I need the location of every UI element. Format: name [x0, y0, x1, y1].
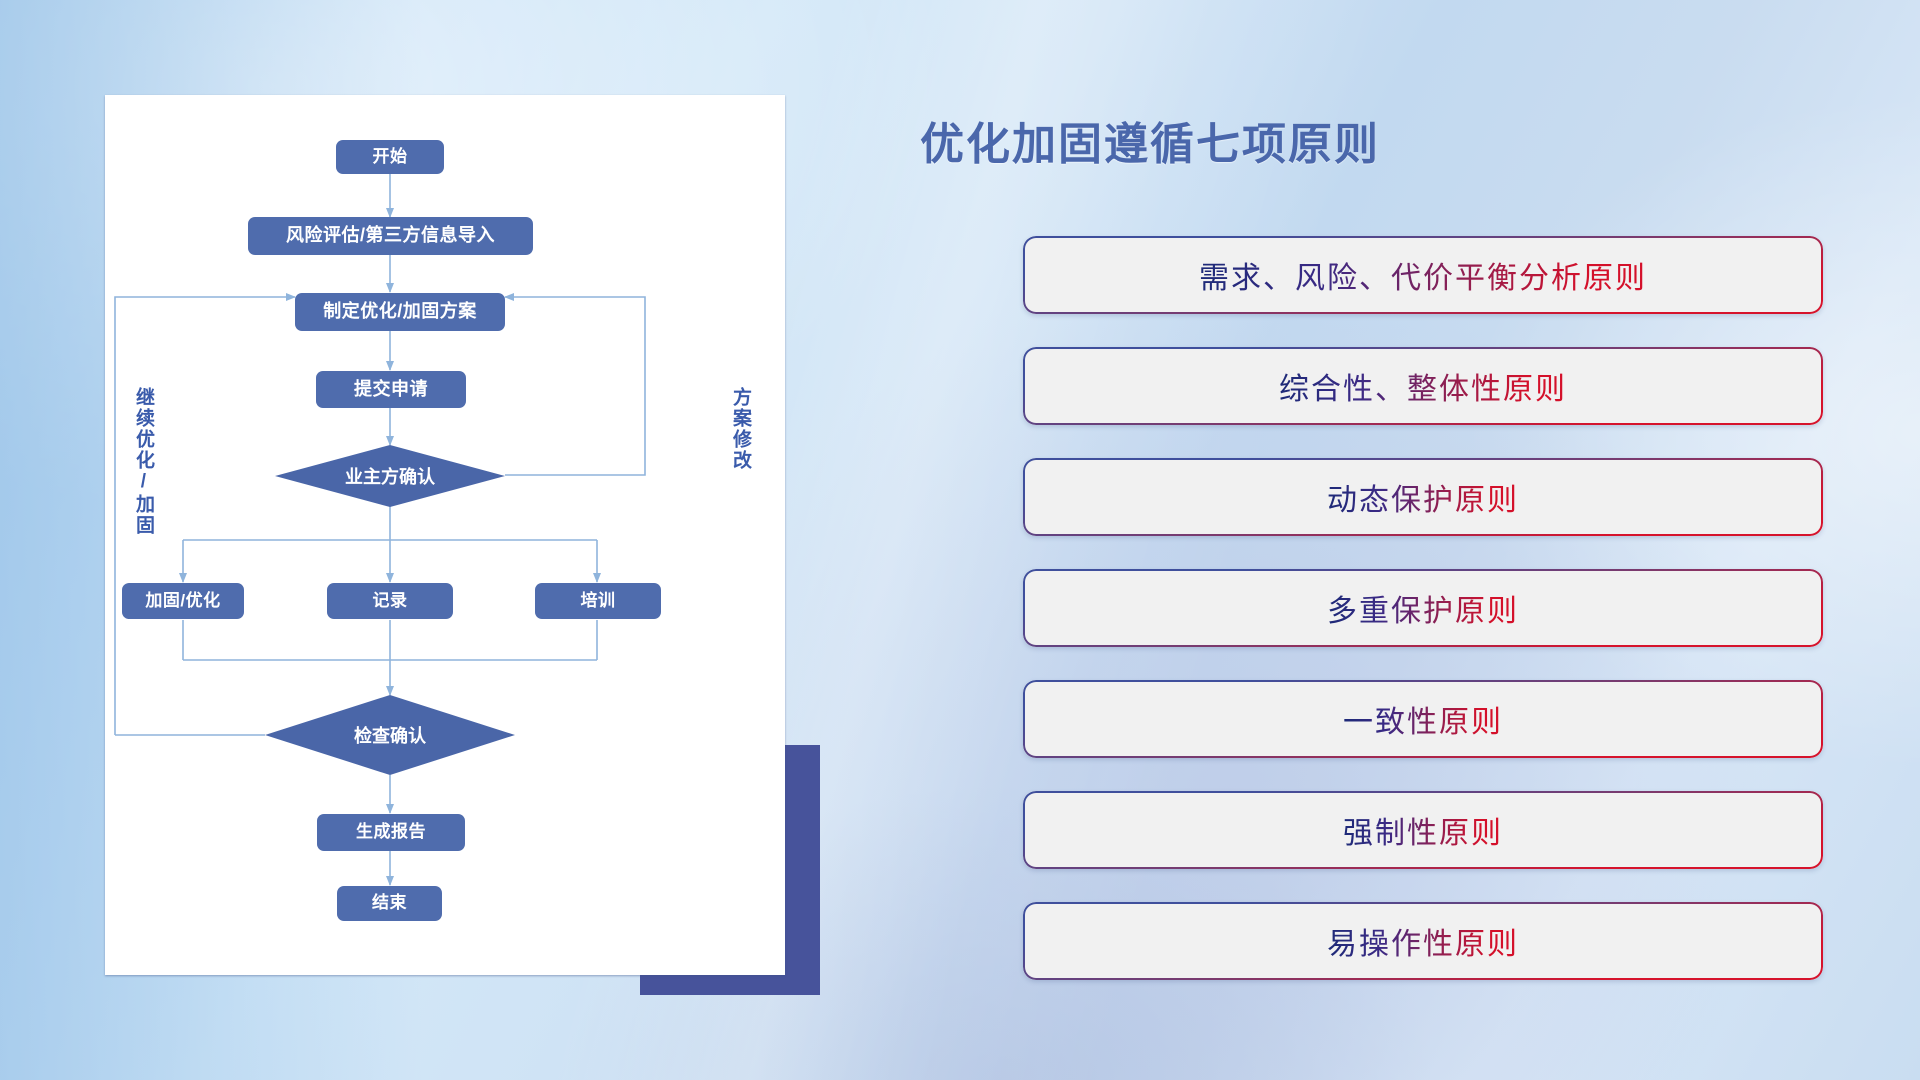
flow-node-make-plan[interactable]: 制定优化/加固方案 [295, 293, 505, 331]
flow-edge-label-right-loop: 方案修改 [730, 387, 750, 471]
flow-node-end[interactable]: 结束 [337, 886, 442, 921]
principle-label: 综合性、整体性原则 [1279, 364, 1567, 408]
principle-label: 一致性原则 [1343, 697, 1503, 741]
principle-label: 易操作性原则 [1327, 919, 1519, 963]
principle-label: 强制性原则 [1343, 808, 1503, 852]
principle-card[interactable]: 易操作性原则 [1023, 902, 1823, 980]
principle-label: 多重保护原则 [1327, 586, 1519, 630]
flow-node-reinforce-optimize[interactable]: 加固/优化 [122, 583, 244, 619]
flowchart-panel: 开始 风险评估/第三方信息导入 制定优化/加固方案 提交申请 业主方确认 加固/… [105, 95, 785, 975]
flow-node-make-plan-label: 制定优化/加固方案 [323, 302, 477, 322]
flow-node-record[interactable]: 记录 [327, 583, 453, 619]
flow-node-submit-application[interactable]: 提交申请 [316, 371, 466, 408]
flow-node-training[interactable]: 培训 [535, 583, 661, 619]
principle-card[interactable]: 多重保护原则 [1023, 569, 1823, 647]
flow-node-generate-report-label: 生成报告 [356, 823, 426, 842]
flow-node-end-label: 结束 [372, 894, 407, 913]
flow-node-generate-report[interactable]: 生成报告 [317, 814, 465, 851]
flow-node-submit-application-label: 提交申请 [354, 380, 428, 400]
page-title: 优化加固遵循七项原则 [920, 108, 1380, 172]
flow-node-risk-assessment[interactable]: 风险评估/第三方信息导入 [248, 217, 533, 255]
flow-node-record-label: 记录 [373, 592, 408, 611]
principle-card[interactable]: 综合性、整体性原则 [1023, 347, 1823, 425]
principle-card[interactable]: 强制性原则 [1023, 791, 1823, 869]
flow-node-check-confirm-label: 检查确认 [354, 722, 426, 748]
flow-node-start-label: 开始 [373, 148, 408, 167]
flow-node-owner-confirm-label: 业主方确认 [345, 463, 435, 489]
principle-card[interactable]: 一致性原则 [1023, 680, 1823, 758]
principle-label: 需求、风险、代价平衡分析原则 [1199, 253, 1647, 297]
principles-list: 需求、风险、代价平衡分析原则 综合性、整体性原则 动态保护原则 多重保护原则 一… [1023, 236, 1823, 1013]
principle-card[interactable]: 动态保护原则 [1023, 458, 1823, 536]
flow-node-risk-assessment-label: 风险评估/第三方信息导入 [286, 226, 495, 246]
principle-label: 动态保护原则 [1327, 475, 1519, 519]
flow-node-reinforce-optimize-label: 加固/优化 [145, 592, 220, 611]
principle-card[interactable]: 需求、风险、代价平衡分析原则 [1023, 236, 1823, 314]
flow-edge-label-left-loop: 继续优化/加固 [133, 387, 153, 536]
flow-node-training-label: 培训 [581, 592, 616, 611]
flow-node-start[interactable]: 开始 [336, 140, 444, 174]
